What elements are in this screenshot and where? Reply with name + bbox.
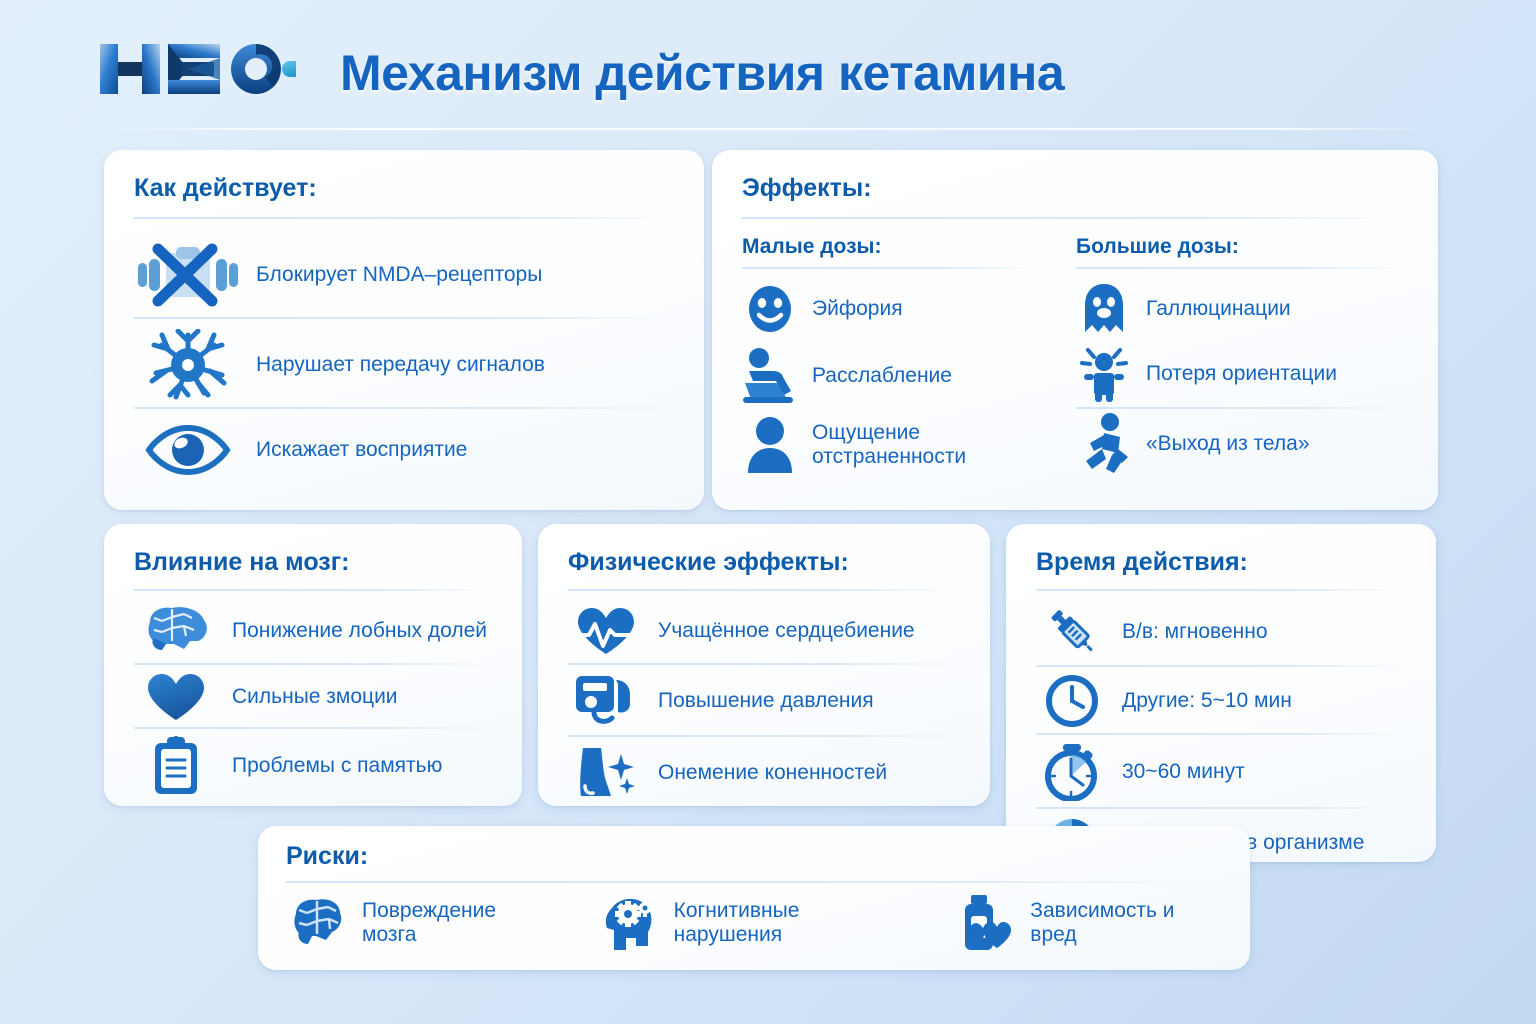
list-item[interactable]: Потеря ориентации [1076, 345, 1406, 403]
card-title: Эффекты: [742, 174, 1410, 203]
dizzy-person-icon [1076, 346, 1132, 402]
list-item-label: Галлюцинации [1146, 297, 1291, 321]
subsection-title: Большие дозы: [1076, 235, 1406, 259]
head-gears-icon [598, 894, 660, 952]
reclining-person-icon [742, 347, 798, 405]
title-divider [568, 589, 958, 591]
pill-bottle-icon [954, 894, 1016, 952]
title-divider [286, 881, 1222, 883]
title-divider [134, 217, 678, 219]
list-item[interactable]: Искажает восприятие [134, 419, 676, 481]
item-divider [134, 663, 490, 665]
header-divider [100, 128, 1436, 130]
item-divider [1076, 407, 1396, 409]
stopwatch-icon [1036, 743, 1108, 801]
card-title: Как действует: [134, 174, 676, 203]
item-divider [568, 663, 958, 665]
list-item[interactable]: Понижение лобных долей [134, 603, 494, 659]
card-title: Время действия: [1036, 548, 1408, 577]
list-item-label: Повреждение мозга [362, 899, 552, 947]
damaged-brain-icon [286, 896, 348, 950]
list-item-label: Потеря ориентации [1146, 362, 1337, 386]
list-item-label: Проблемы с памятью [232, 754, 442, 778]
list-item[interactable]: 30~60 минут [1036, 741, 1408, 803]
clock-icon [1036, 674, 1108, 728]
list-item[interactable]: Повышение давления [568, 671, 962, 731]
title-divider [1036, 589, 1404, 591]
eye-icon [134, 424, 242, 476]
subsection-divider [742, 267, 1032, 269]
list-item[interactable]: Расслабление [742, 345, 1042, 407]
list-item-label: Зависимость и вред [1030, 899, 1222, 947]
list-item[interactable]: Онемение коненностей [568, 743, 962, 803]
list-item-label: В/в: мгновенно [1122, 620, 1268, 644]
list-item[interactable]: Нарушает передачу сигналов [134, 329, 676, 401]
list-item[interactable]: Блокирует NMDA–рецепторы [134, 239, 676, 311]
list-item[interactable]: Эйфория [742, 281, 1042, 337]
list-item[interactable]: Галлюцинации [1076, 281, 1406, 337]
list-item[interactable]: «Выход из тела» [1076, 413, 1406, 475]
list-item-label: Искажает восприятие [256, 438, 467, 462]
card-brain-impact: Влияние на мозг: Понижение лобных долей [104, 524, 522, 806]
list-item-label: Когнитивные нарушения [674, 899, 909, 947]
item-divider [1036, 665, 1404, 667]
list-item-label: Другие: 5~10 мин [1122, 689, 1292, 713]
numb-leg-icon [568, 744, 644, 802]
brand-logo [96, 38, 296, 100]
item-divider [568, 735, 958, 737]
list-item-label: 30~60 минут [1122, 760, 1245, 784]
list-item-label: Ощущение отстраненности [812, 421, 1042, 469]
page-header: Механизм действия кетамина [0, 0, 1536, 132]
heart-pulse-icon [568, 604, 644, 658]
clipboard-icon [134, 736, 218, 796]
title-divider [742, 217, 1406, 219]
item-divider [134, 317, 678, 319]
subsection-title: Малые дозы: [742, 235, 1042, 259]
list-item-label: Расслабление [812, 364, 952, 388]
page-title: Механизм действия кетамина [340, 44, 1064, 102]
list-item-label: Повышение давления [658, 689, 874, 713]
list-item-label: Эйфория [812, 297, 903, 321]
title-divider [134, 589, 490, 591]
list-item-label: «Выход из тела» [1146, 432, 1310, 456]
list-item-label: Сильные змоции [232, 685, 398, 709]
list-item[interactable]: Сильные змоции [134, 671, 494, 723]
list-item[interactable]: Проблемы с памятью [134, 735, 494, 797]
list-item-label: Учащённое сердцебиение [658, 619, 915, 643]
list-item[interactable]: Ощущение отстраненности [742, 413, 1042, 477]
card-physical-effects: Физические эффекты: Учащённое сердцебиен… [538, 524, 990, 806]
blocked-receptor-icon [134, 243, 242, 307]
list-item-label: Блокирует NMDA–рецепторы [256, 263, 542, 287]
card-effects: Эффекты: Малые дозы: Эйфория [712, 150, 1438, 510]
card-title: Влияние на мозг: [134, 548, 494, 577]
list-item[interactable]: Другие: 5~10 мин [1036, 673, 1408, 729]
neuron-icon [134, 329, 242, 401]
card-title: Риски: [286, 842, 1222, 871]
item-divider [1036, 733, 1404, 735]
blood-pressure-monitor-icon [568, 672, 644, 730]
list-item[interactable]: Учащённое сердцебиение [568, 603, 962, 659]
card-risks: Риски: [258, 826, 1250, 970]
list-item[interactable]: Когнитивные нарушения [598, 893, 909, 953]
list-item-label: Онемение коненностей [658, 761, 887, 785]
effects-low-dose-column: Малые дозы: Эйфория [742, 235, 1042, 477]
floating-person-icon [1076, 413, 1132, 475]
person-silhouette-icon [742, 415, 798, 475]
list-item[interactable]: Повреждение мозга [286, 893, 552, 953]
neo-plus-logo-icon [96, 38, 296, 100]
list-item[interactable]: В/в: мгновенно [1036, 601, 1408, 663]
syringe-icon [1036, 603, 1108, 661]
subsection-divider [1076, 267, 1396, 269]
list-item-label: Нарушает передачу сигналов [256, 353, 545, 377]
heart-icon [134, 671, 218, 723]
item-divider [134, 407, 678, 409]
item-divider [1036, 807, 1404, 809]
card-title: Физические эффекты: [568, 548, 962, 577]
list-item[interactable]: Зависимость и вред [954, 893, 1222, 953]
card-duration: Время действия: [1006, 524, 1436, 862]
card-how-it-works: Как действует: [104, 150, 704, 510]
item-divider [134, 727, 490, 729]
effects-high-dose-column: Большие дозы: Галлюцинации [1076, 235, 1406, 477]
brain-icon [134, 604, 218, 658]
smiley-face-icon [742, 284, 798, 334]
ghost-icon [1076, 282, 1132, 336]
list-item-label: Понижение лобных долей [232, 619, 487, 643]
